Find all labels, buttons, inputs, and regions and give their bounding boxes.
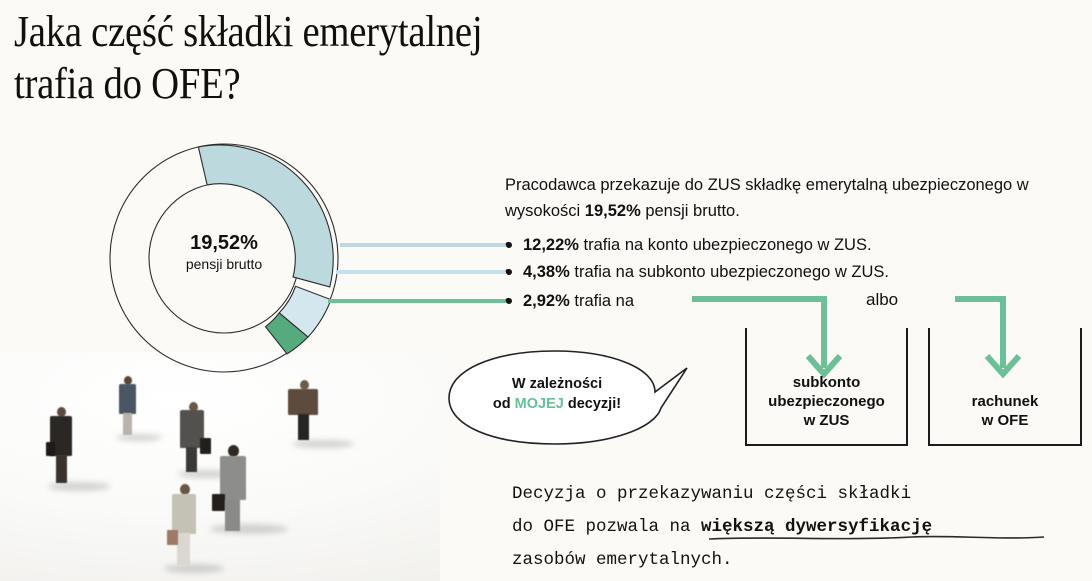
speech-bubble-text: W zależności od MOJEJ decyzji! bbox=[457, 374, 657, 414]
bullet-marker: • bbox=[505, 290, 523, 312]
bullet-value: 2,92% bbox=[523, 292, 570, 310]
footer-note: Decyzja o przekazywaniu części składki d… bbox=[512, 478, 1092, 577]
destination-box-subkonto-zus: subkonto ubezpieczonego w ZUS bbox=[745, 328, 908, 446]
donut-segment-konto-zus bbox=[198, 142, 340, 309]
bullet-text: trafia na konto ubezpieczonego w ZUS. bbox=[579, 236, 872, 254]
bullet-marker: • bbox=[505, 234, 523, 256]
description-paragraph: Pracodawca przekazuje do ZUS składkę eme… bbox=[505, 172, 1065, 224]
donut-center-label: 19,52% pensji brutto bbox=[136, 232, 312, 272]
page-title: Jaka część składki emerytalnej trafia do… bbox=[14, 6, 736, 110]
donut-center-value: 19,52% bbox=[136, 232, 312, 255]
paragraph-text-2: pensji brutto. bbox=[641, 202, 740, 220]
speech-bubble-highlight: MOJEJ bbox=[515, 396, 564, 412]
donut-center-caption: pensji brutto bbox=[136, 256, 312, 272]
connector-line-3 bbox=[328, 299, 508, 303]
destination-box-label: subkonto ubezpieczonego w ZUS bbox=[768, 373, 885, 430]
speech-bubble-line2-suffix: decyzji! bbox=[564, 396, 621, 412]
connector-line-2 bbox=[336, 270, 508, 274]
speech-bubble: W zależności od MOJEJ decyzji! bbox=[443, 348, 693, 448]
destination-box-rachunek-ofe: rachunek w OFE bbox=[928, 328, 1082, 446]
speech-bubble-line2-prefix: od bbox=[493, 396, 515, 412]
footer-note-line-2: do OFE pozwala na większą dywersyfikację bbox=[512, 511, 1092, 544]
bullet-value: 12,22% bbox=[523, 236, 579, 254]
bullet-item-3: •2,92% trafia na bbox=[505, 290, 634, 312]
footer-note-line-1: Decyzja o przekazywaniu części składki bbox=[512, 478, 1092, 511]
flow-separator-albo: albo bbox=[866, 290, 898, 310]
destination-box-label: rachunek w OFE bbox=[972, 392, 1039, 430]
speech-bubble-line1: W zależności bbox=[512, 376, 602, 392]
bullet-item-1: •12,22% trafia na konto ubezpieczonego w… bbox=[505, 234, 872, 256]
bullet-value: 4,38% bbox=[523, 263, 570, 281]
paragraph-text-1: Pracodawca przekazuje do ZUS składkę eme… bbox=[505, 176, 1029, 220]
people-photo bbox=[0, 352, 440, 581]
bullet-text: trafia na subkonto ubezpieczonego w ZUS. bbox=[570, 263, 889, 281]
footer-note-line-3: zasobów emerytalnych. bbox=[512, 544, 1092, 577]
infographic-canvas: Jaka część składki emerytalnej trafia do… bbox=[0, 0, 1092, 581]
connector-line-1 bbox=[340, 243, 508, 247]
bullet-item-2: •4,38% trafia na subkonto ubezpieczonego… bbox=[505, 261, 889, 283]
bullet-marker: • bbox=[505, 261, 523, 283]
paragraph-bold-value: 19,52% bbox=[585, 202, 641, 220]
footer-note-underline bbox=[512, 511, 1092, 544]
bullet-text: trafia na bbox=[570, 292, 634, 310]
